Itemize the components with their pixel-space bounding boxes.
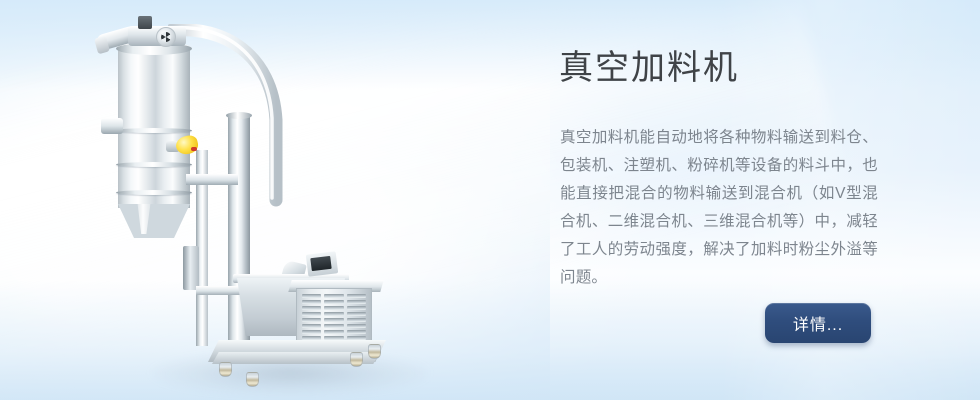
product-hero-banner: 真空加料机 真空加料机能自动地将各种物料输送到料仓、包装机、注塑机、粉碎机等设备… bbox=[0, 0, 980, 400]
product-title: 真空加料机 bbox=[559, 46, 739, 90]
caster-wheel-icon bbox=[219, 362, 232, 377]
caster-wheel-icon bbox=[368, 344, 381, 359]
frame-cross-arm-icon bbox=[186, 174, 238, 185]
caster-wheel-icon bbox=[350, 352, 363, 367]
details-button[interactable]: 详情... bbox=[765, 303, 871, 343]
frame-bracket-icon bbox=[183, 246, 199, 290]
cabinet-louvers-icon bbox=[302, 294, 366, 344]
valve-indicator-icon bbox=[191, 147, 197, 151]
banner-text-panel: 真空加料机 真空加料机能自动地将各种物料输送到料仓、包装机、注塑机、粉碎机等设备… bbox=[559, 0, 889, 400]
product-description: 真空加料机能自动地将各种物料输送到料仓、包装机、注塑机、粉碎机等设备的料斗中，也… bbox=[560, 124, 878, 292]
control-panel-screen-icon bbox=[310, 256, 331, 271]
frame-cross-arm-icon bbox=[196, 286, 242, 295]
top-valve-knob-icon bbox=[138, 16, 152, 29]
hopper-band-icon bbox=[116, 162, 192, 167]
caster-wheel-icon bbox=[246, 372, 259, 387]
top-valve-disc-icon bbox=[156, 27, 176, 47]
hopper-band-icon bbox=[116, 128, 192, 133]
hopper-discharge-cone-icon bbox=[118, 204, 190, 238]
product-image-vacuum-feeder bbox=[0, 0, 460, 400]
side-nozzle-icon bbox=[101, 118, 123, 134]
hopper-band-icon bbox=[116, 190, 192, 195]
